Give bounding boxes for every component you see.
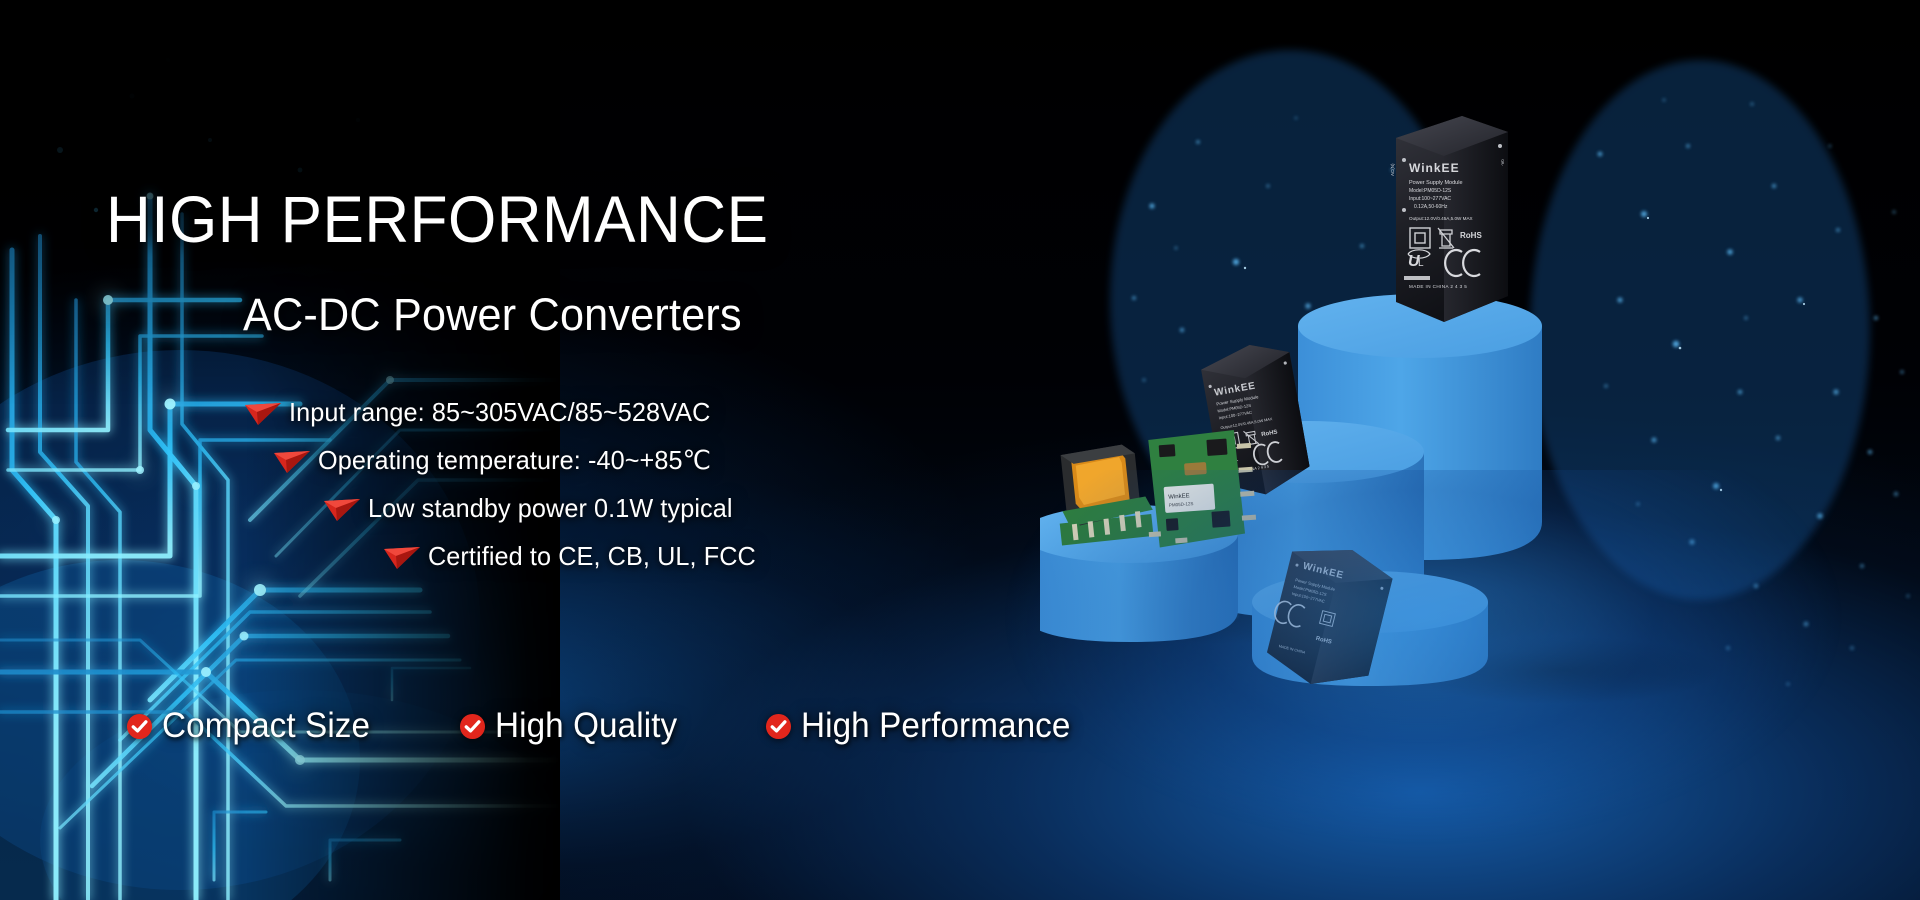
list-item-label: Operating temperature: -40~+85℃ xyxy=(318,445,711,476)
feature-label: High Performance xyxy=(801,706,1070,746)
check-circle-icon xyxy=(126,713,153,740)
svg-text:RoHS: RoHS xyxy=(1460,231,1482,240)
list-item-label: Input range: 85~305VAC/85~528VAC xyxy=(289,397,710,428)
list-item: Low standby power 0.1W typical xyxy=(0,484,1060,532)
svg-text:Input:100~277VAC: Input:100~277VAC xyxy=(1409,196,1451,202)
svg-text:Model:PM05D-12S: Model:PM05D-12S xyxy=(1409,188,1452,194)
feature-label: High Quality xyxy=(495,706,677,746)
list-item-label: Low standby power 0.1W typical xyxy=(368,493,733,524)
power-module-top: WinkEE Power Supply Module Model:PM05D-1… xyxy=(1390,116,1508,322)
page-subtitle: AC-DC Power Converters xyxy=(243,292,742,337)
product-banner: WinkEE Power Supply Module Model:PM05D-1… xyxy=(0,0,1920,900)
svg-text:L: L xyxy=(1418,258,1424,269)
svg-text:Output:12.0V/0.45A,5.0W MAX: Output:12.0V/0.45A,5.0W MAX xyxy=(1409,216,1473,221)
check-circle-icon xyxy=(459,713,486,740)
svg-text:0.12A,50-60Hz: 0.12A,50-60Hz xyxy=(1414,204,1448,210)
list-item: Input range: 85~305VAC/85~528VAC xyxy=(0,388,1060,436)
svg-text:AC(N): AC(N) xyxy=(1390,163,1395,176)
red-arrow-icon xyxy=(243,398,283,426)
svg-text:MADE IN CHINA 2 4 3 5: MADE IN CHINA 2 4 3 5 xyxy=(1409,284,1467,289)
page-title: HIGH PERFORMANCE xyxy=(106,186,768,252)
feature-high-performance: High Performance xyxy=(765,706,1085,746)
feature-label: Compact Size xyxy=(162,706,370,746)
svg-text:Power Supply Module: Power Supply Module xyxy=(1409,180,1463,186)
feature-badge-row: Compact Size High Quality High Performan… xyxy=(126,706,1085,746)
banner-content: HIGH PERFORMANCE AC-DC Power Converters … xyxy=(0,0,1100,900)
spec-list: Input range: 85~305VAC/85~528VAC Operati… xyxy=(0,388,1060,580)
red-arrow-icon xyxy=(322,494,362,522)
check-circle-icon xyxy=(765,713,792,740)
list-item: Operating temperature: -40~+85℃ xyxy=(0,436,1060,484)
product-podium-scene: WinkEE Power Supply Module Model:PM05D-1… xyxy=(1040,90,1920,790)
red-arrow-icon xyxy=(382,542,422,570)
list-item-label: Certified to CE, CB, UL, FCC xyxy=(428,541,756,572)
feature-compact-size: Compact Size xyxy=(126,706,381,746)
list-item: Certified to CE, CB, UL, FCC xyxy=(0,532,1060,580)
red-arrow-icon xyxy=(272,446,312,474)
svg-text:WinkEE: WinkEE xyxy=(1409,161,1460,175)
feature-high-quality: High Quality xyxy=(459,706,687,746)
svg-text:-Vo: -Vo xyxy=(1500,159,1505,166)
